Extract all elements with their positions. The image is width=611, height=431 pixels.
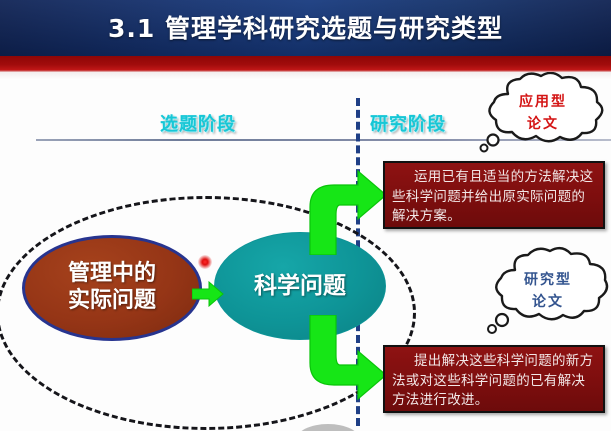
thought-cloud-applied-paper: 应用型 论文 — [478, 72, 608, 154]
elbow-arrow-up-right-icon — [296, 165, 388, 255]
cloud2-line1: 研究型 — [524, 272, 572, 288]
thought-cloud-research-paper: 研究型 论文 — [485, 244, 611, 336]
node-practical-problem: 管理中的 实际问题 — [22, 235, 202, 341]
node-practical-line1: 管理中的 — [68, 261, 156, 286]
arrow-right-icon — [192, 281, 224, 307]
callout-applied-outcome: 运用已有且适当的方法解决这些科学问题并给出原实际问题的解决方案。 — [383, 161, 605, 229]
title-accent-band — [0, 56, 611, 72]
cloud1-line1: 应用型 — [519, 94, 567, 110]
bottom-partial-shape — [296, 424, 360, 431]
page-title: 3.1 管理学科研究选题与研究类型 — [0, 9, 611, 45]
red-dot-marker — [198, 255, 212, 269]
node-practical-line2: 实际问题 — [68, 288, 156, 313]
cloud2-line2: 论文 — [532, 294, 564, 310]
callout-research-outcome: 提出解决这些科学问题的新方法或对这些科学问题的已有解决方法进行改进。 — [383, 345, 605, 413]
elbow-arrow-down-right-icon — [296, 315, 388, 405]
node-scientific-line1: 科学问题 — [254, 272, 346, 300]
cloud1-line2: 论文 — [527, 116, 559, 132]
thought-cloud-research-paper-label: 研究型 论文 — [485, 270, 611, 313]
thought-cloud-applied-paper-label: 应用型 论文 — [478, 92, 608, 135]
slide-canvas: 3.1 管理学科研究选题与研究类型 选题阶段 研究阶段 管理中的 实际问题 科学… — [0, 0, 611, 431]
stage-label-research: 研究阶段 — [370, 110, 446, 136]
stage-label-selection: 选题阶段 — [160, 110, 236, 136]
